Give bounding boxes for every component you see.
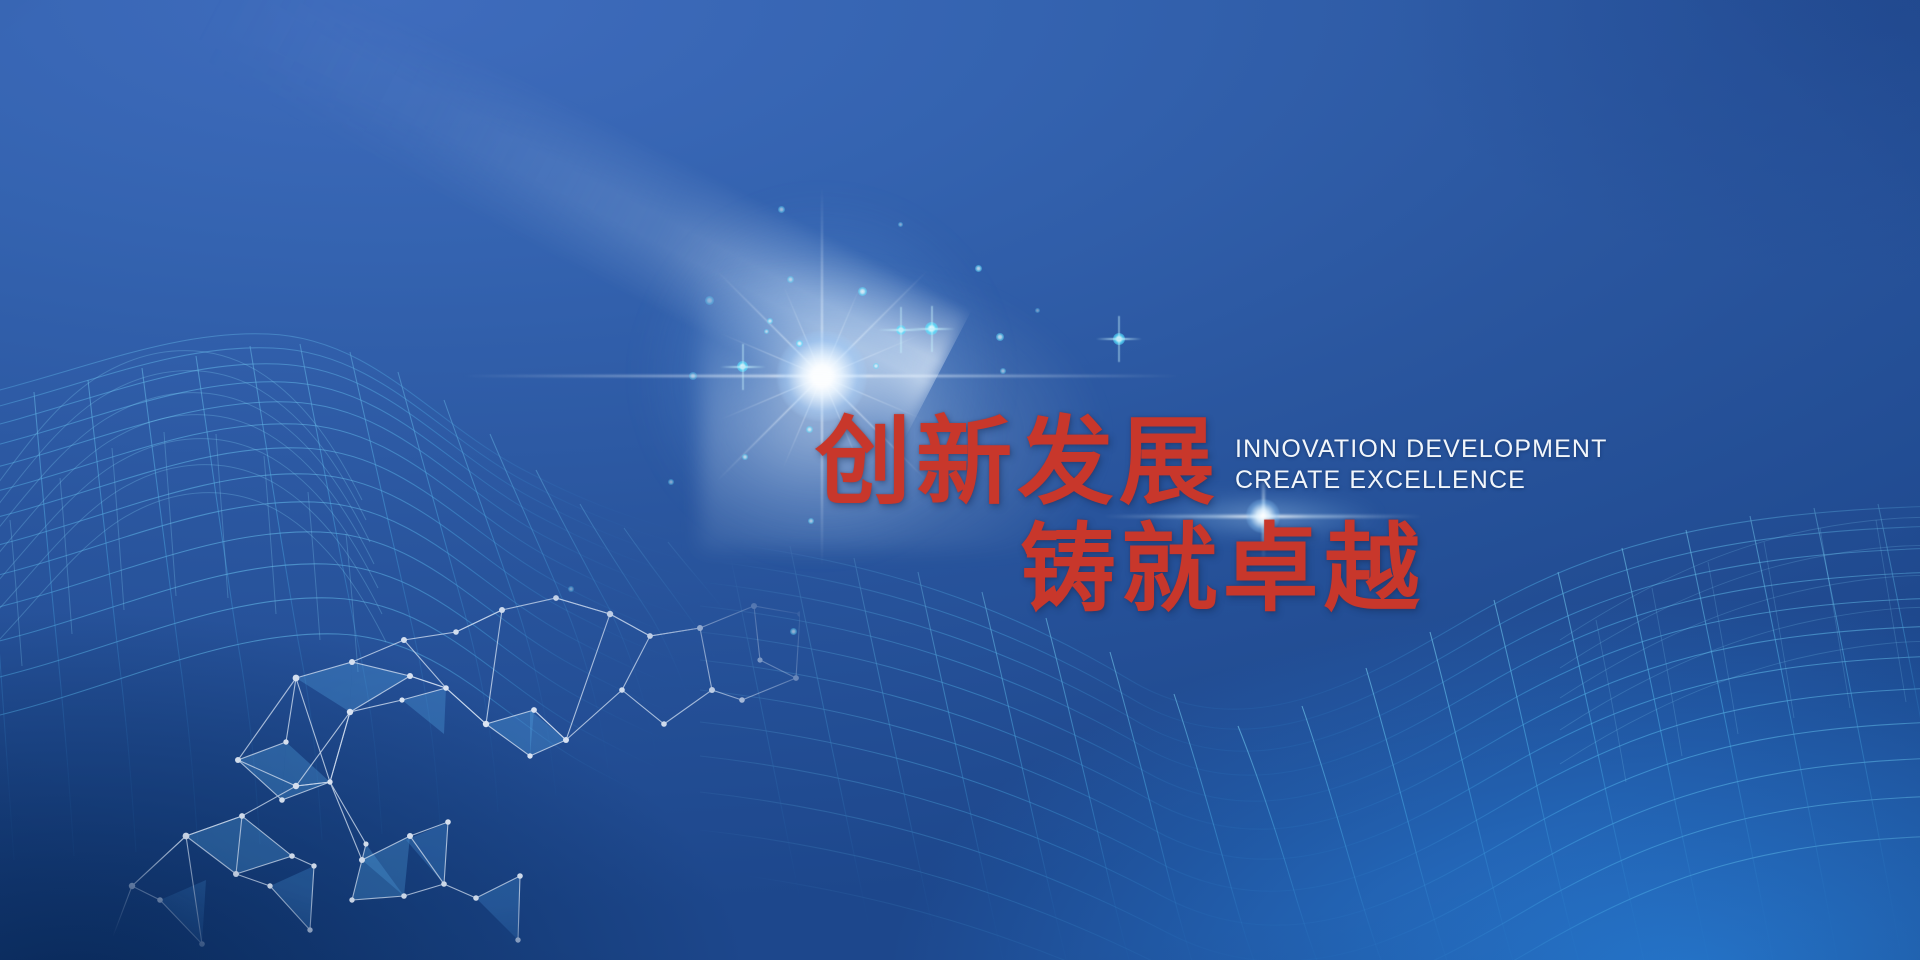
background-vignette [0,0,1920,960]
banner-canvas: 创新发展 铸就卓越 INNOVATION DEVELOPMENT CREATE … [0,0,1920,960]
